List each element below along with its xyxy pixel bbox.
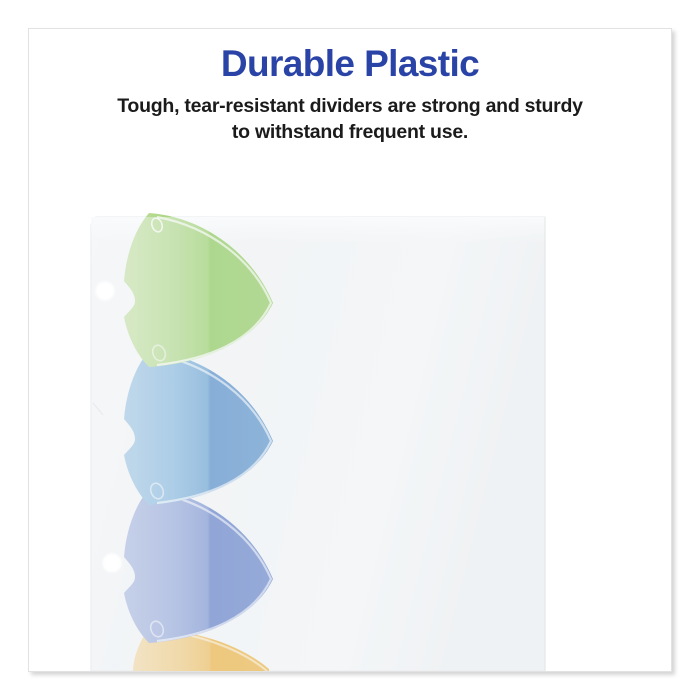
product-photo (29, 159, 672, 671)
page-subtitle: Tough, tear-resistant dividers are stron… (65, 94, 635, 145)
product-card: Durable Plastic Tough, tear-resistant di… (28, 28, 672, 672)
product-name: Plastic index divider sheet (29, 29, 30, 30)
binder-punch-hole-top (96, 282, 115, 301)
page-subtitle-line-2: to withstand frequent use. (232, 121, 468, 143)
frosted-overlay (91, 217, 545, 671)
binder-punch-hole-bottom (103, 554, 122, 573)
page-subtitle-line-1: Tough, tear-resistant dividers are stron… (117, 95, 583, 117)
screenshot-root: Durable Plastic Tough, tear-resistant di… (0, 0, 700, 700)
frosted-sheet-film (91, 217, 545, 671)
headline-block: Durable Plastic Tough, tear-resistant di… (29, 45, 671, 145)
page-title: Durable Plastic (29, 45, 671, 84)
divider-illustration (29, 159, 672, 671)
